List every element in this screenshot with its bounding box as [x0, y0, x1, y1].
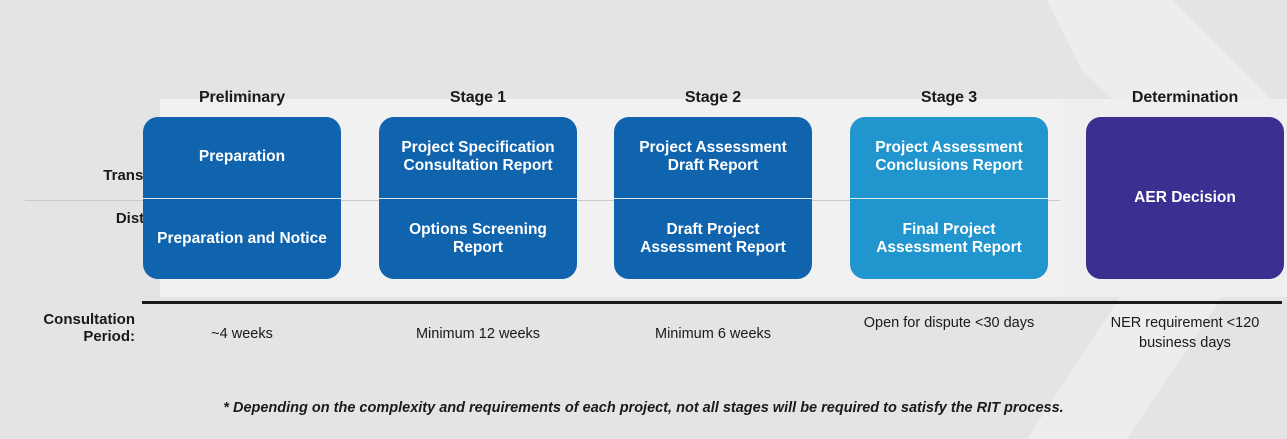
stage-block-determination[interactable]: AER Decision [1086, 117, 1284, 279]
stage-cell-distribution-stage-3: Final Project Assessment Report [850, 199, 1048, 280]
footnote-text: * Depending on the complexity and requir… [0, 400, 1287, 416]
consultation-period-preliminary: ~4 weeks [143, 325, 341, 345]
row-label-consultation-period: Consultation Period: [0, 312, 135, 346]
stage-cell-aer-decision: AER Decision [1086, 117, 1284, 279]
column-header-stage-1: Stage 1 [379, 89, 577, 107]
column-header-determination: Determination [1086, 89, 1284, 107]
diagram-canvas: Transmission Distribution Consultation P… [0, 0, 1287, 439]
stage-cell-distribution-stage-2: Draft Project Assessment Report [614, 199, 812, 280]
consultation-period-stage-3: Open for dispute <30 days [850, 314, 1048, 334]
row-label-consultation-period-line2: Period: [0, 329, 135, 346]
column-header-stage-2: Stage 2 [614, 89, 812, 107]
stage-cell-transmission-preliminary: Preparation [143, 117, 341, 199]
stage-block-preliminary[interactable]: Preparation Preparation and Notice [143, 117, 341, 279]
stage-block-stage-3[interactable]: Project Assessment Conclusions Report Fi… [850, 117, 1048, 279]
column-header-stage-3: Stage 3 [850, 89, 1048, 107]
stage-block-stage-2[interactable]: Project Assessment Draft Report Draft Pr… [614, 117, 812, 279]
row-label-consultation-period-line1: Consultation [0, 312, 135, 329]
consultation-period-stage-1: Minimum 12 weeks [379, 325, 577, 345]
stage-cell-transmission-stage-3: Project Assessment Conclusions Report [850, 117, 1048, 199]
stage-cell-distribution-preliminary: Preparation and Notice [143, 199, 341, 280]
consultation-period-determination: NER requirement <120 business days [1086, 314, 1284, 353]
stage-cell-distribution-stage-1: Options Screening Report [379, 199, 577, 280]
stage-block-stage-1[interactable]: Project Specification Consultation Repor… [379, 117, 577, 279]
column-header-preliminary: Preliminary [143, 89, 341, 107]
consultation-period-stage-2: Minimum 6 weeks [614, 325, 812, 345]
stage-cell-transmission-stage-2: Project Assessment Draft Report [614, 117, 812, 199]
consultation-period-rule [142, 301, 1282, 304]
stage-cell-transmission-stage-1: Project Specification Consultation Repor… [379, 117, 577, 199]
